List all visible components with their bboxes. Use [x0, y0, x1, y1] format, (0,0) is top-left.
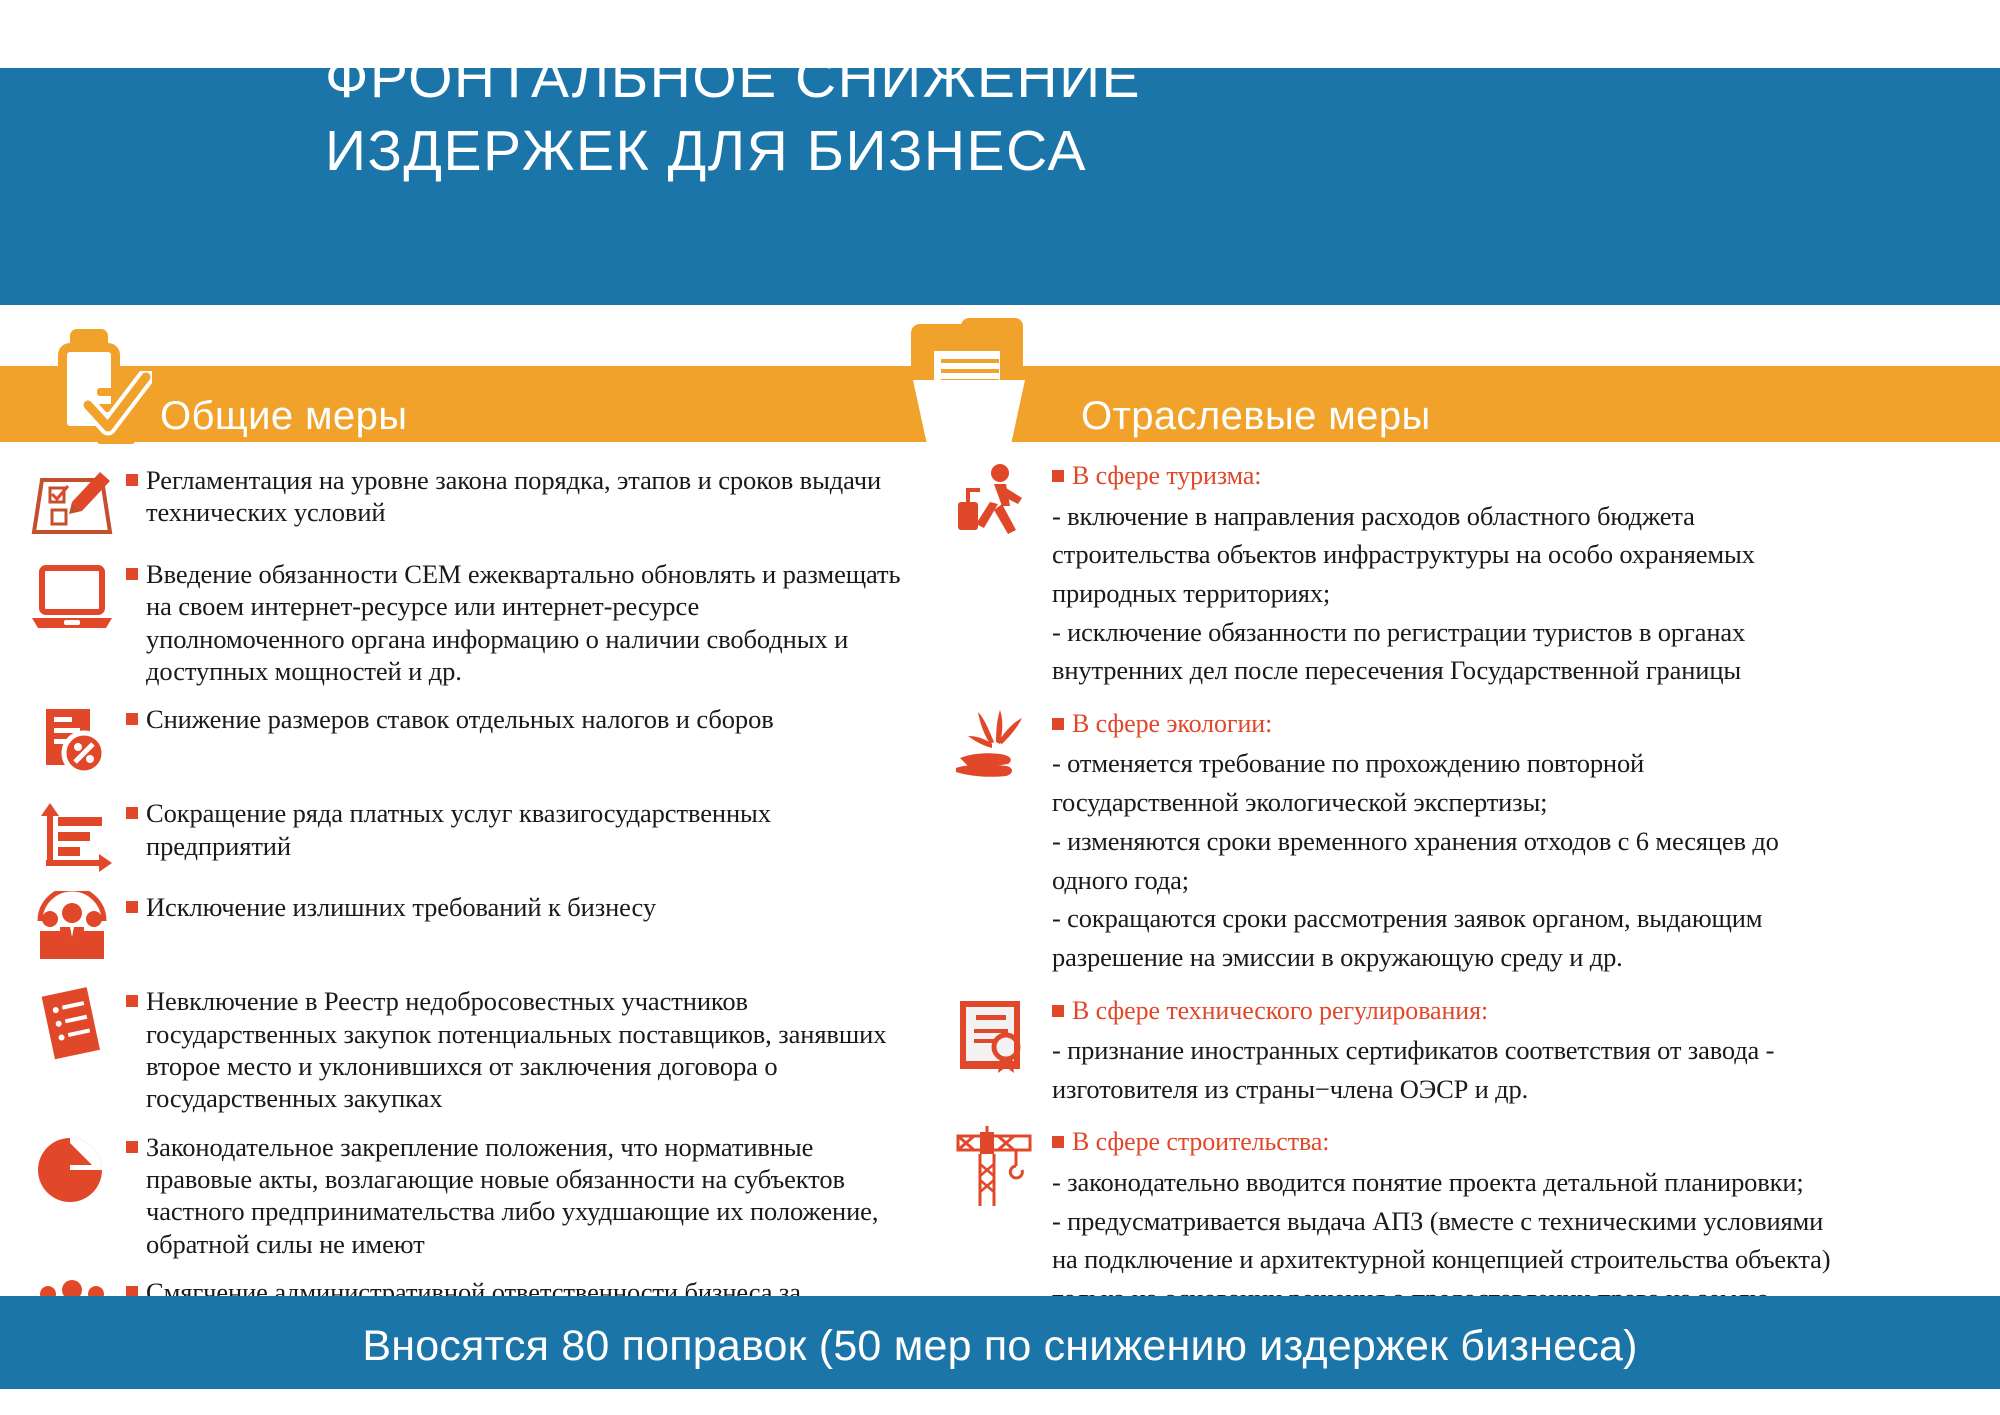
list-item: Исключение излишних требований к бизнесу: [24, 891, 904, 969]
list-item-text: Законодательное закрепление положения, ч…: [124, 1131, 904, 1260]
open-folder-documents-icon: [905, 318, 1035, 444]
bar-chart-arrow-icon: [24, 797, 120, 875]
list-item: В сфере технического регулирования: - пр…: [944, 995, 1984, 1109]
block-body: В сфере строительства: - законодательно …: [1050, 1126, 1984, 1317]
general-measures-column: Регламентация на уровне закона порядка, …: [24, 464, 904, 1370]
block-heading: В сфере туризма:: [1050, 460, 1984, 493]
block-line: - законодательно вводится понятие проект…: [1050, 1163, 1984, 1202]
block-line: - предусматривается выдача АПЗ (вместе с…: [1050, 1202, 1984, 1241]
block-line: природных территориях;: [1050, 574, 1984, 613]
people-group-icon: [24, 891, 120, 969]
block-heading: В сфере строительства:: [1050, 1126, 1984, 1159]
section-title-general: Общие меры: [160, 394, 407, 439]
list-item-text: Введение обязанности СЕМ ежеквартально о…: [124, 558, 904, 687]
list-item: Сокращение ряда платных услуг квазигосуд…: [24, 797, 904, 875]
tourist-walking-icon: [944, 460, 1044, 546]
sectoral-measures-column: В сфере туризма: - включение в направлен…: [944, 460, 1984, 1336]
content-area: Регламентация на уровне закона порядка, …: [0, 452, 2000, 1287]
certificate-icon: [944, 995, 1044, 1081]
block-line: - включение в направления расходов облас…: [1050, 497, 1984, 536]
block-line: строительства объектов инфраструктуры на…: [1050, 535, 1984, 574]
block-line: государственной экологической экспертизы…: [1050, 783, 1984, 822]
page-title-line-1: ФРОНТАЛЬНОЕ СНИЖЕНИЕ: [325, 42, 1775, 115]
list-item: Снижение размеров ставок отдельных налог…: [24, 703, 904, 781]
list-item-text: Регламентация на уровне закона порядка, …: [124, 464, 904, 529]
clipboard-check-icon: [40, 325, 158, 443]
page-title: ФРОНТАЛЬНОЕ СНИЖЕНИЕ ИЗДЕРЖЕК ДЛЯ БИЗНЕС…: [325, 42, 1775, 188]
block-heading: В сфере технического регулирования:: [1050, 995, 1984, 1028]
list-item: В сфере экологии: - отменяется требовани…: [944, 708, 1984, 977]
check-mark-icon: [82, 371, 152, 441]
list-item: В сфере строительства: - законодательно …: [944, 1126, 1984, 1317]
block-line: - исключение обязанности по регистрации …: [1050, 613, 1984, 652]
block-line: изготовителя из страны−члена ОЭСР и др.: [1050, 1070, 1984, 1109]
list-item-text: Сокращение ряда платных услуг квазигосуд…: [124, 797, 904, 862]
list-item: Законодательное закрепление положения, ч…: [24, 1131, 904, 1260]
block-line: - отменяется требование по прохождению п…: [1050, 744, 1984, 783]
list-item-text: Снижение размеров ставок отдельных налог…: [124, 703, 904, 735]
block-line: разрешение на эмиссии в окружающую среду…: [1050, 938, 1984, 977]
page-title-line-2: ИЗДЕРЖЕК ДЛЯ БИЗНЕСА: [325, 115, 1775, 188]
construction-crane-icon: [944, 1126, 1044, 1212]
list-item: Введение обязанности СЕМ ежеквартально о…: [24, 558, 904, 687]
section-title-sectoral: Отраслевые меры: [1081, 394, 1431, 439]
block-line: внутренних дел после пересечения Государ…: [1050, 651, 1984, 690]
list-item: В сфере туризма: - включение в направлен…: [944, 460, 1984, 690]
document-list-icon: [24, 985, 120, 1063]
block-line: на подключение и архитектурной концепцие…: [1050, 1240, 1984, 1279]
list-item-text: Исключение излишних требований к бизнесу: [124, 891, 904, 923]
tax-percent-icon: [24, 703, 120, 781]
plant-in-hand-icon: [944, 708, 1044, 794]
laptop-icon: [24, 558, 120, 636]
list-item-text: Невключение в Реестр недобросовестных уч…: [124, 985, 904, 1114]
list-item: Регламентация на уровне закона порядка, …: [24, 464, 904, 542]
list-item: Невключение в Реестр недобросовестных уч…: [24, 985, 904, 1114]
block-body: В сфере экологии: - отменяется требовани…: [1050, 708, 1984, 977]
block-body: В сфере технического регулирования: - пр…: [1050, 995, 1984, 1109]
checklist-pencil-icon: [24, 464, 120, 542]
block-heading: В сфере экологии:: [1050, 708, 1984, 741]
pie-chart-icon: [24, 1131, 120, 1209]
block-line: - сокращаются сроки рассмотрения заявок …: [1050, 899, 1984, 938]
block-line: - изменяются сроки временного хранения о…: [1050, 822, 1984, 861]
footer-summary-text: Вносятся 80 поправок (50 мер по снижению…: [0, 1322, 2000, 1371]
block-line: одного года;: [1050, 861, 1984, 900]
infographic-poster: ФРОНТАЛЬНОЕ СНИЖЕНИЕ ИЗДЕРЖЕК ДЛЯ БИЗНЕС…: [0, 0, 2000, 1415]
block-line: - признание иностранных сертификатов соо…: [1050, 1031, 1984, 1070]
block-body: В сфере туризма: - включение в направлен…: [1050, 460, 1984, 690]
